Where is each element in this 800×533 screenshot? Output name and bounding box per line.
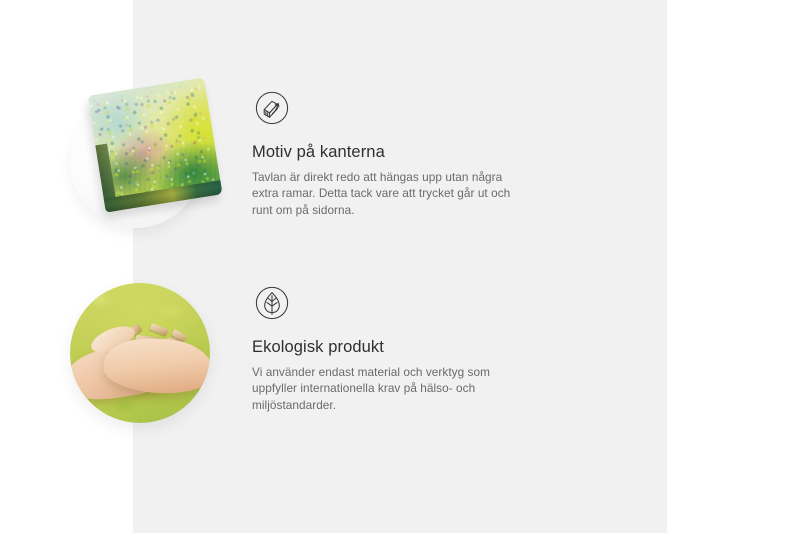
feature-row-motiv: Motiv på kanterna Tavlan är direkt redo … <box>0 88 522 228</box>
feature-text-ekologisk: Ekologisk produkt Vi använder endast mat… <box>252 283 522 413</box>
photo-circle-mask <box>70 283 210 423</box>
feature-title: Ekologisk produkt <box>252 337 522 357</box>
content-panel <box>133 0 667 533</box>
feature-title: Motiv på kanterna <box>252 142 522 162</box>
feature-row-ekologisk: Ekologisk produkt Vi använder endast mat… <box>0 283 522 423</box>
canvas-print-photo <box>70 88 210 228</box>
feature-description: Vi använder endast material och verktyg … <box>252 364 522 413</box>
feature-description: Tavlan är direkt redo att hängas upp uta… <box>252 169 522 218</box>
leaf-icon <box>252 283 292 323</box>
product-feature-banner: Motiv på kanterna Tavlan är direkt redo … <box>0 0 800 533</box>
canvas-print-object <box>87 77 222 212</box>
canvas-wrapped-edge-icon <box>252 88 292 128</box>
wood-chips-photo <box>70 283 210 423</box>
feature-text-motiv: Motiv på kanterna Tavlan är direkt redo … <box>252 88 522 218</box>
